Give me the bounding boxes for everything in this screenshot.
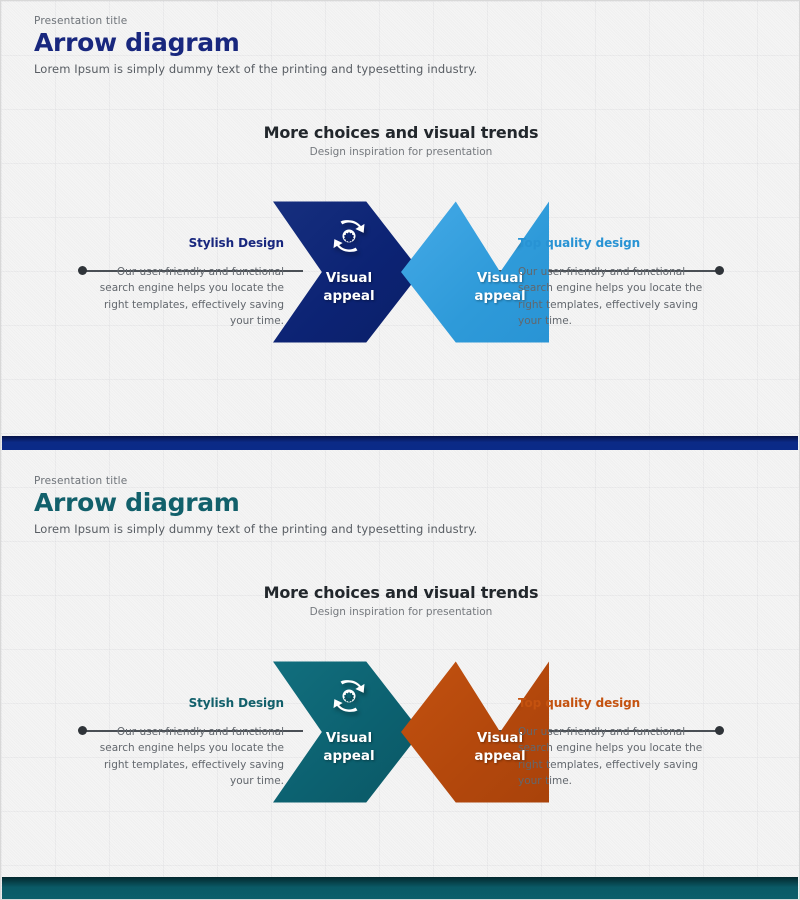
arrow-left-label-line2: appeal [277,748,421,766]
side-left-body: Our user-friendly and functional search … [79,264,284,329]
sync-gear-icon [327,674,371,718]
arrow-left-content: Visual appeal [273,674,421,765]
slide-1: Presentation title Arrow diagram Lorem I… [1,1,800,431]
side-left-title: Stylish Design [79,236,284,250]
page-subtitle: Lorem Ipsum is simply dummy text of the … [34,522,477,536]
crane-excavator-icon [478,674,522,718]
page-subtitle: Lorem Ipsum is simply dummy text of the … [34,62,477,76]
side-block-right: Top quality design Our user-friendly and… [518,696,723,789]
arrow-shape-left[interactable]: Visual appeal [273,186,421,358]
arrow-left-label-line2: appeal [277,288,421,306]
presentation-title-eyebrow: Presentation title [34,15,477,27]
slide-header: Presentation title Arrow diagram Lorem I… [34,15,477,76]
side-left-body: Our user-friendly and functional search … [79,724,284,789]
side-block-left: Stylish Design Our user-friendly and fun… [79,696,284,789]
arrow-left-label: Visual appeal [277,730,421,765]
sync-gear-icon [327,214,371,258]
side-left-title: Stylish Design [79,696,284,710]
arrow-left-label-line1: Visual [277,270,421,288]
center-heading-block: More choices and visual trends Design in… [1,583,800,618]
arrow-left-content: Visual appeal [273,214,421,305]
slide-2: Presentation title Arrow diagram Lorem I… [1,461,800,891]
side-right-body: Our user-friendly and functional search … [518,724,723,789]
center-heading-block: More choices and visual trends Design in… [1,123,800,158]
arrow-left-label: Visual appeal [277,270,421,305]
center-title: More choices and visual trends [1,123,800,142]
side-block-right: Top quality design Our user-friendly and… [518,236,723,329]
arrow-left-label-line1: Visual [277,730,421,748]
footer-bar [2,877,798,900]
slide-header: Presentation title Arrow diagram Lorem I… [34,475,477,536]
slide-deck-page: Presentation title Arrow diagram Lorem I… [0,0,800,900]
arrow-diagram: Visual appeal [1,646,800,836]
center-subtitle: Design inspiration for presentation [1,606,800,618]
page-title: Arrow diagram [34,30,477,56]
arrow-shape-left[interactable]: Visual appeal [273,646,421,818]
arrow-diagram: Visual appeal [1,186,800,376]
side-right-title: Top quality design [518,236,723,250]
center-title: More choices and visual trends [1,583,800,602]
center-subtitle: Design inspiration for presentation [1,146,800,158]
slide-separator-bar [2,436,798,450]
side-right-title: Top quality design [518,696,723,710]
side-right-body: Our user-friendly and functional search … [518,264,723,329]
presentation-title-eyebrow: Presentation title [34,475,477,487]
crane-excavator-icon [478,214,522,258]
side-block-left: Stylish Design Our user-friendly and fun… [79,236,284,329]
page-title: Arrow diagram [34,490,477,516]
